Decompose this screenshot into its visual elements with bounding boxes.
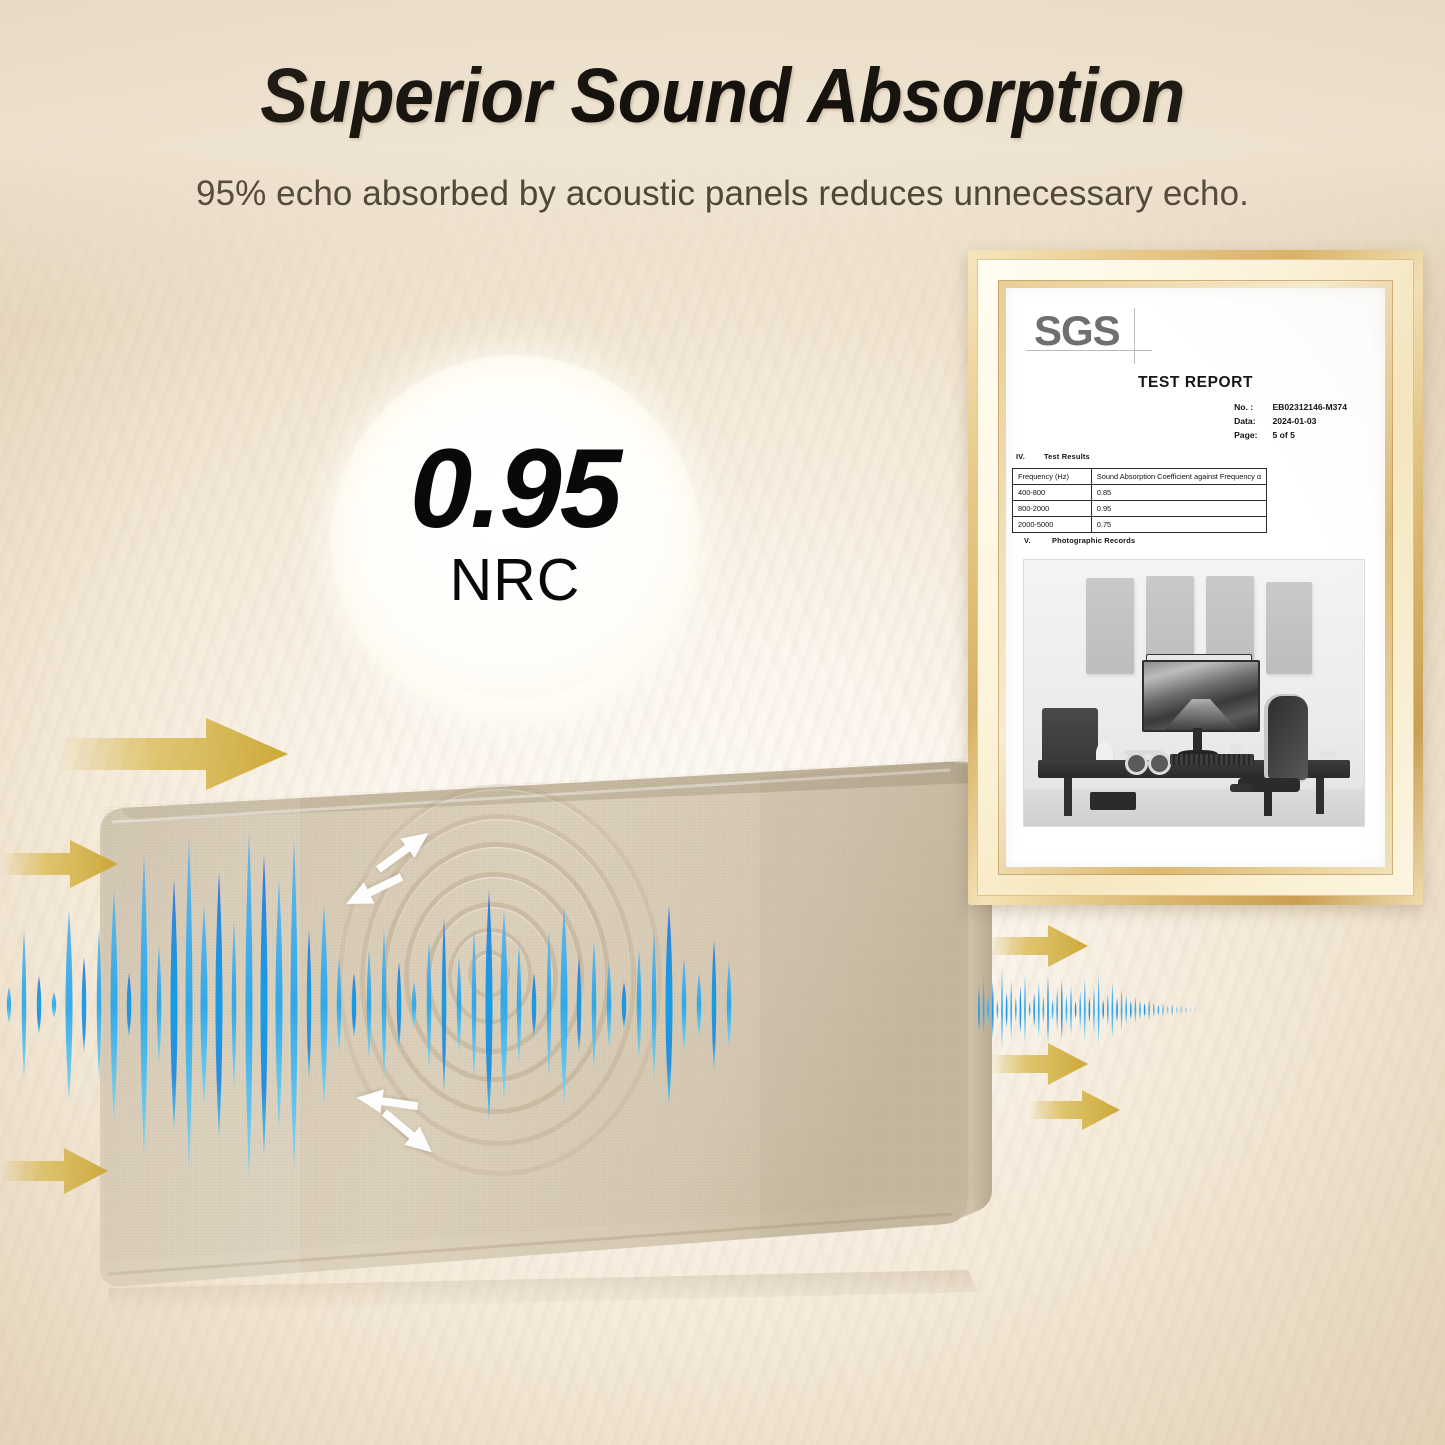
background-vignette (0, 0, 1445, 1445)
marketing-image-stage: Superior Sound Absorption 95% echo absor… (0, 0, 1445, 1445)
